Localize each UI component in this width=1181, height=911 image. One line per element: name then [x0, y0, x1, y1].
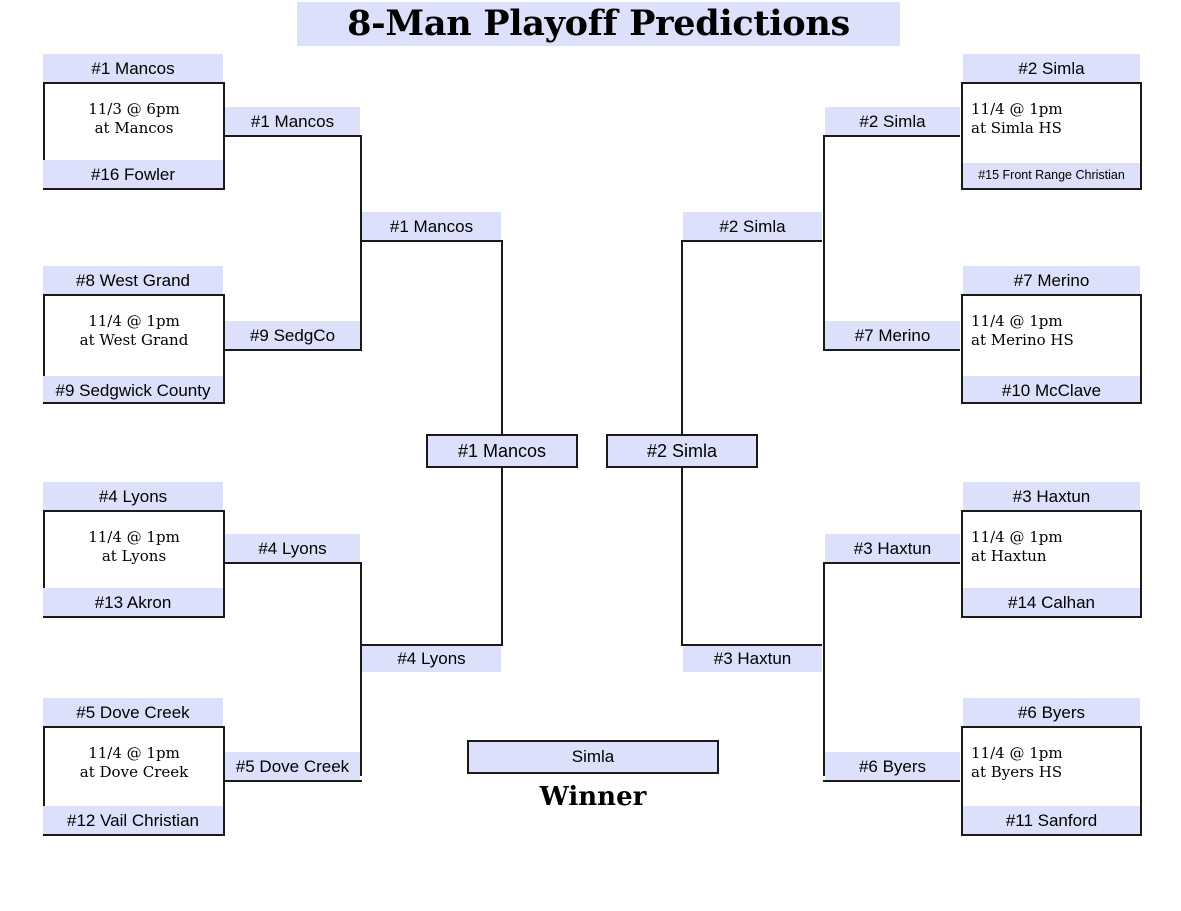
- slot-left-r1-1-bottom[interactable]: #9 Sedgwick County: [43, 376, 223, 404]
- matchup-edge: [501, 240, 503, 436]
- slot-left-r2-0[interactable]: #1 Mancos: [225, 107, 360, 135]
- slot-right-r3-0[interactable]: #2 Simla: [683, 212, 822, 240]
- matchup-edge: [681, 466, 683, 646]
- game-site: at Simla HS: [971, 119, 1143, 138]
- matchup-edge: [823, 135, 825, 349]
- matchup-divider: [43, 188, 225, 190]
- slot-left-r1-3-bottom[interactable]: #12 Vail Christian: [43, 806, 223, 834]
- slot-right-r1-2-top[interactable]: #3 Haxtun: [963, 482, 1140, 510]
- game-info-right-r1-0: 11/4 @ 1pm at Simla HS: [971, 100, 1143, 138]
- slot-left-r2-3[interactable]: #5 Dove Creek: [225, 752, 360, 780]
- slot-left-r2-2[interactable]: #4 Lyons: [225, 534, 360, 562]
- matchup-divider: [961, 510, 1142, 512]
- slot-right-r1-0-top[interactable]: #2 Simla: [963, 54, 1140, 82]
- game-time: 11/4 @ 1pm: [43, 744, 225, 763]
- slot-left-r3-1[interactable]: #4 Lyons: [362, 644, 501, 672]
- game-site: at Haxtun: [971, 547, 1143, 566]
- game-info-right-r1-2: 11/4 @ 1pm at Haxtun: [971, 528, 1143, 566]
- matchup-divider: [43, 402, 225, 404]
- game-info-right-r1-3: 11/4 @ 1pm at Byers HS: [971, 744, 1143, 782]
- matchup-divider: [823, 349, 960, 351]
- slot-right-r3-1[interactable]: #3 Haxtun: [683, 644, 822, 672]
- slot-right-r2-3[interactable]: #6 Byers: [825, 752, 960, 780]
- slot-right-r2-2[interactable]: #3 Haxtun: [825, 534, 960, 562]
- matchup-divider: [225, 780, 362, 782]
- page-title: 8-Man Playoff Predictions: [297, 2, 900, 46]
- matchup-divider: [225, 562, 362, 564]
- slot-right-r1-1-top[interactable]: #7 Merino: [963, 266, 1140, 294]
- game-info-left-r1-3: 11/4 @ 1pm at Dove Creek: [43, 744, 225, 782]
- slot-left-r1-0-top[interactable]: #1 Mancos: [43, 54, 223, 82]
- matchup-divider: [961, 402, 1142, 404]
- game-site: at West Grand: [43, 331, 225, 350]
- game-info-right-r1-1: 11/4 @ 1pm at Merino HS: [971, 312, 1143, 350]
- slot-left-r1-2-top[interactable]: #4 Lyons: [43, 482, 223, 510]
- matchup-edge: [823, 562, 825, 776]
- matchup-divider: [681, 240, 822, 242]
- game-info-left-r1-2: 11/4 @ 1pm at Lyons: [43, 528, 225, 566]
- matchup-divider: [43, 726, 225, 728]
- matchup-divider: [961, 188, 1142, 190]
- slot-right-r1-2-bottom[interactable]: #14 Calhan: [963, 588, 1140, 616]
- game-site: at Merino HS: [971, 331, 1143, 350]
- slot-right-r2-0[interactable]: #2 Simla: [825, 107, 960, 135]
- matchup-divider: [43, 510, 225, 512]
- slot-left-r2-1[interactable]: #9 SedgCo: [225, 321, 360, 349]
- matchup-divider: [961, 82, 1142, 84]
- matchup-divider: [681, 644, 822, 646]
- game-time: 11/4 @ 1pm: [971, 100, 1143, 119]
- matchup-edge: [681, 240, 683, 436]
- champion-box[interactable]: Simla: [467, 740, 719, 774]
- slot-right-r1-3-top[interactable]: #6 Byers: [963, 698, 1140, 726]
- game-time: 11/4 @ 1pm: [971, 744, 1143, 763]
- tournament-bracket: 8-Man Playoff Predictions #1 Mancos 11/3…: [0, 0, 1181, 911]
- matchup-divider: [362, 240, 503, 242]
- matchup-divider: [43, 294, 225, 296]
- matchup-divider: [961, 834, 1142, 836]
- matchup-divider: [43, 82, 225, 84]
- matchup-divider: [362, 644, 503, 646]
- slot-left-r3-0[interactable]: #1 Mancos: [362, 212, 501, 240]
- slot-right-r1-0-bottom[interactable]: #15 Front Range Christian: [963, 163, 1140, 188]
- slot-left-r1-3-top[interactable]: #5 Dove Creek: [43, 698, 223, 726]
- game-time: 11/4 @ 1pm: [43, 312, 225, 331]
- game-site: at Mancos: [43, 119, 225, 138]
- slot-left-r1-1-top[interactable]: #8 West Grand: [43, 266, 223, 294]
- matchup-divider: [961, 294, 1142, 296]
- slot-left-r1-2-bottom[interactable]: #13 Akron: [43, 588, 223, 616]
- winner-label: Winner: [467, 782, 719, 812]
- matchup-edge: [501, 466, 503, 646]
- game-time: 11/4 @ 1pm: [971, 312, 1143, 331]
- game-time: 11/3 @ 6pm: [43, 100, 225, 119]
- game-site: at Dove Creek: [43, 763, 225, 782]
- game-time: 11/4 @ 1pm: [43, 528, 225, 547]
- matchup-divider: [225, 135, 362, 137]
- matchup-divider: [961, 726, 1142, 728]
- matchup-divider: [43, 616, 225, 618]
- matchup-edge: [360, 135, 362, 349]
- matchup-divider: [823, 562, 960, 564]
- slot-left-semifinal[interactable]: #1 Mancos: [426, 434, 578, 468]
- slot-right-semifinal[interactable]: #2 Simla: [606, 434, 758, 468]
- game-site: at Lyons: [43, 547, 225, 566]
- slot-right-r2-1[interactable]: #7 Merino: [825, 321, 960, 349]
- game-info-left-r1-1: 11/4 @ 1pm at West Grand: [43, 312, 225, 350]
- matchup-divider: [823, 135, 960, 137]
- slot-left-r1-0-bottom[interactable]: #16 Fowler: [43, 160, 223, 188]
- game-info-left-r1-0: 11/3 @ 6pm at Mancos: [43, 100, 225, 138]
- game-site: at Byers HS: [971, 763, 1143, 782]
- matchup-divider: [225, 349, 362, 351]
- slot-right-r1-1-bottom[interactable]: #10 McClave: [963, 376, 1140, 404]
- matchup-divider: [961, 616, 1142, 618]
- slot-right-r1-3-bottom[interactable]: #11 Sanford: [963, 806, 1140, 834]
- matchup-divider: [43, 834, 225, 836]
- game-time: 11/4 @ 1pm: [971, 528, 1143, 547]
- matchup-divider: [823, 780, 960, 782]
